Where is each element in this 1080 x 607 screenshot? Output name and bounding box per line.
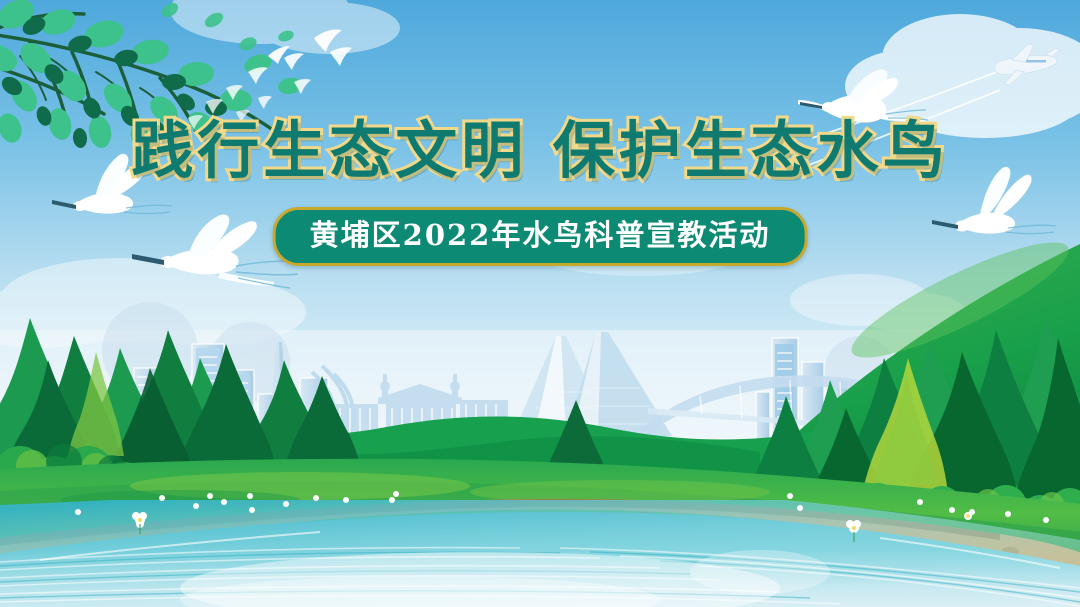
lake-water [0, 500, 1080, 607]
subtitle-badge-label: 黄埔区2022年水鸟科普宣教活动 [310, 217, 771, 253]
page-title: 践行生态文明 保护生态水鸟 [0, 118, 1080, 183]
subtitle-badge: 黄埔区2022年水鸟科普宣教活动 [273, 207, 808, 266]
scene-illustration [0, 0, 1080, 607]
poster-canvas: 践行生态文明 保护生态水鸟 黄埔区2022年水鸟科普宣教活动 [0, 0, 1080, 607]
